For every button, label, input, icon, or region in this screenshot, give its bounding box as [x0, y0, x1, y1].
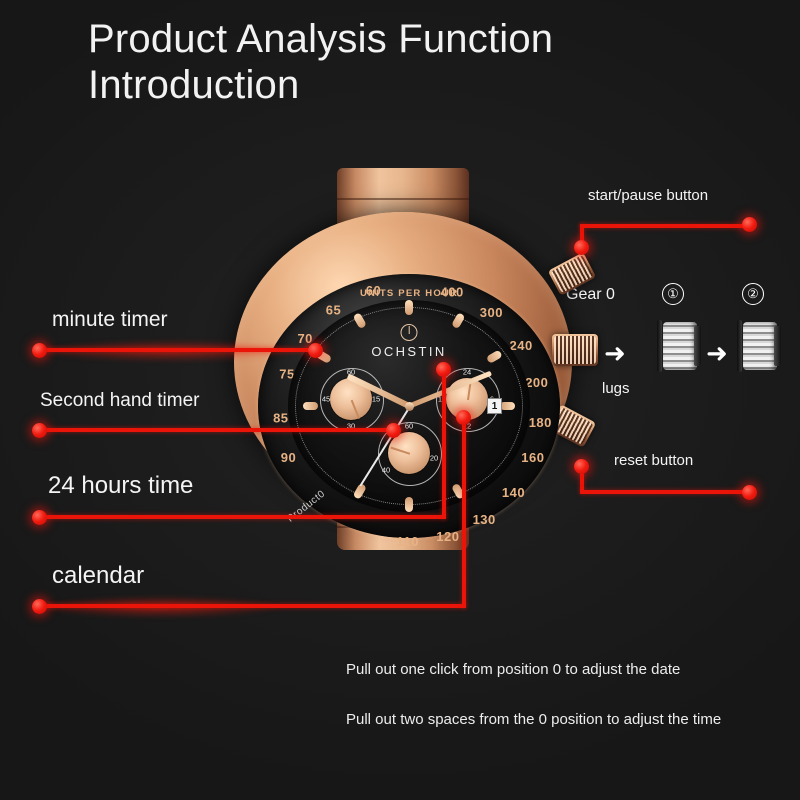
callout-dot-minute-timer-target	[308, 343, 323, 358]
watch-dial: OCHSTIN 60 30 45 15	[288, 300, 530, 512]
step-one-badge: ①	[662, 283, 684, 305]
subdial-second-40: 40	[382, 466, 390, 475]
callout-dot-reset-origin	[574, 459, 589, 474]
arrow-right-icon-steps: ➜	[706, 340, 728, 366]
crown-position-one-icon	[657, 318, 701, 374]
callout-dot-24-hours-time-origin	[32, 510, 47, 525]
subdial-second-20: 20	[430, 454, 438, 463]
infographic-canvas: Product Analysis Function Introduction U…	[0, 0, 800, 800]
instruction-line-one: Pull out one click from position 0 to ad…	[346, 660, 746, 680]
callout-label-reset-button: reset button	[614, 452, 693, 469]
callout-dot-start-pause-origin	[574, 240, 589, 255]
arrow-right-icon-lugs: ➜	[604, 340, 626, 366]
callout-dot-second-hand-timer-target	[386, 423, 401, 438]
page-title: Product Analysis Function Introduction	[88, 16, 748, 109]
instruction-line-two: Pull out two spaces from the 0 position …	[346, 710, 746, 730]
callout-dot-calendar-target	[456, 410, 471, 425]
subdial-second-60: 60	[405, 422, 413, 431]
callout-line-24-hours-time-horizontal	[42, 515, 446, 519]
brand-logo-icon	[401, 324, 418, 341]
callout-line-second-hand-timer	[42, 428, 398, 432]
callout-label-minute-timer: minute timer	[52, 308, 168, 332]
hands-pivot	[405, 402, 414, 411]
crown-position-two-icon	[737, 318, 781, 374]
callout-line-24-hours-time-vertical	[442, 372, 446, 519]
callout-label-start-pause-button: start/pause button	[588, 187, 708, 204]
callout-line-start-pause-horizontal	[580, 224, 748, 228]
subdial-minute-15: 15	[372, 395, 380, 404]
callout-line-calendar-horizontal	[42, 604, 466, 608]
callout-dot-start-pause-target	[742, 217, 757, 232]
callout-line-reset-horizontal	[580, 490, 748, 494]
subdial-24h-24: 24	[463, 368, 471, 377]
callout-line-calendar-vertical	[462, 418, 466, 608]
callout-label-24-hours-time: 24 hours time	[48, 472, 193, 500]
callout-dot-minute-timer-origin	[32, 343, 47, 358]
callout-line-minute-timer	[42, 348, 316, 352]
watch-case: UNITS PER HOUR 400 300 240 200 180 160 1…	[234, 212, 572, 512]
lugs-label: lugs	[602, 380, 630, 397]
callout-label-second-hand-timer: Second hand timer	[40, 390, 200, 412]
step-two-badge: ②	[742, 283, 764, 305]
callout-dot-reset-target	[742, 485, 757, 500]
date-window: 1	[487, 398, 502, 414]
callout-dot-second-hand-timer-origin	[32, 423, 47, 438]
callout-dot-24-hours-time-target	[436, 362, 451, 377]
subdial-minute-45: 45	[322, 395, 330, 404]
callout-dot-calendar-origin	[32, 599, 47, 614]
callout-label-calendar: calendar	[52, 562, 144, 590]
